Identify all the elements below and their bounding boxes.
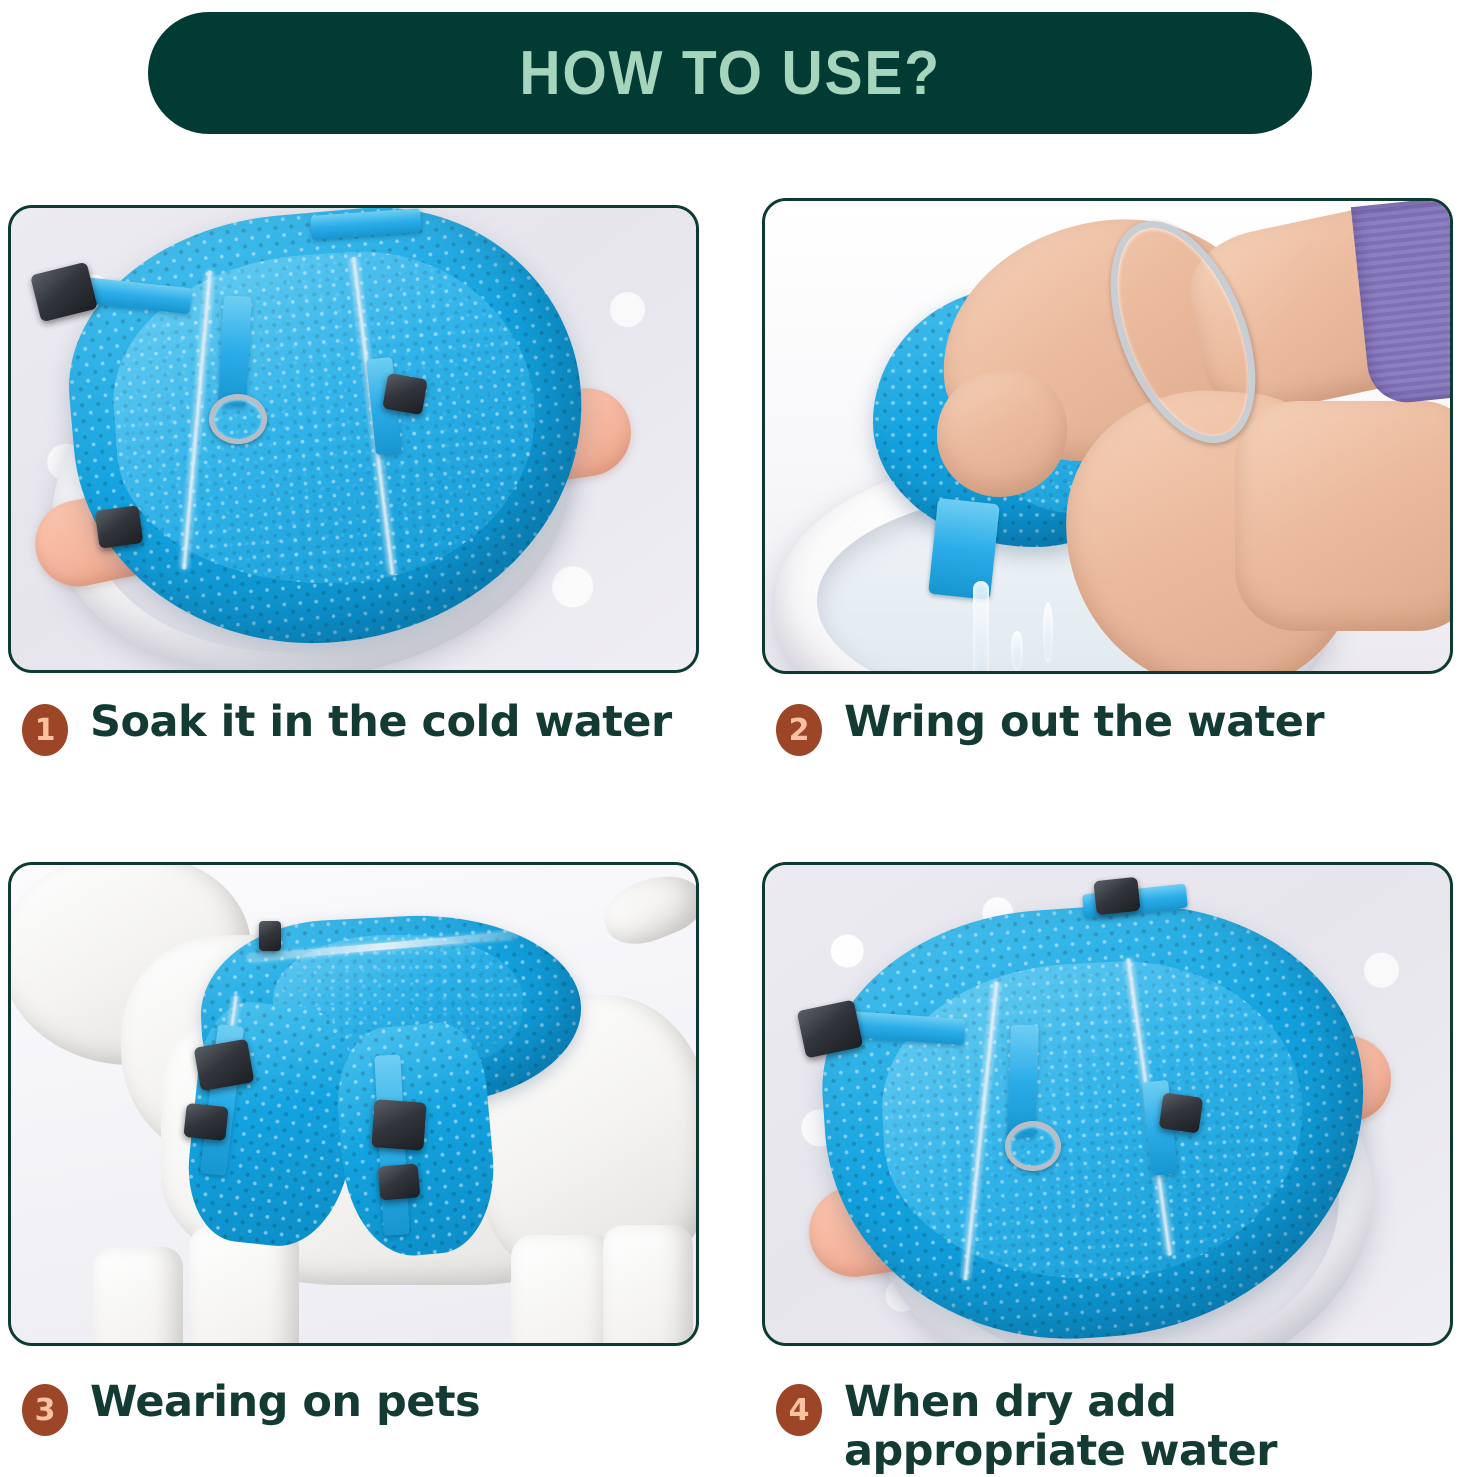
dog-hind-leg-near: [511, 1235, 616, 1343]
photo-wearing-on-pet: [11, 865, 696, 1343]
step-badge-1: 1: [22, 704, 68, 756]
harness-d-ring: [209, 394, 267, 444]
step-image-3: [8, 862, 699, 1346]
step-caption-3: 3 Wearing on pets: [22, 1378, 722, 1436]
forearm-lower: [1235, 401, 1450, 631]
step-image-2: [762, 198, 1453, 674]
harness-slider-chest: [183, 1103, 228, 1141]
harness-hanging-strap: [928, 498, 1000, 600]
harness-buckle-right: [1159, 1092, 1204, 1133]
photo-soak-harness: [11, 208, 696, 670]
dog-hind-leg-far: [603, 1225, 693, 1343]
dog-front-leg-far: [93, 1247, 183, 1343]
harness-buckle-chest: [194, 1039, 255, 1092]
step-image-4: [762, 862, 1453, 1346]
page-title: HOW TO USE?: [519, 38, 941, 109]
harness-buckle-top-right: [1093, 877, 1140, 915]
harness-buckle-bottom: [95, 505, 144, 549]
harness-zipper-pull: [259, 921, 281, 951]
step-caption-4: 4 When dry add appropriate water: [776, 1378, 1446, 1477]
harness-slider-belly: [378, 1163, 421, 1200]
step-label-4: When dry add appropriate water: [844, 1378, 1446, 1477]
water-drip-2: [1043, 603, 1053, 663]
photo-refill-water: [765, 865, 1450, 1343]
step-caption-2: 2 Wring out the water: [776, 698, 1446, 756]
header-banner: HOW TO USE?: [148, 12, 1312, 134]
step-label-3: Wearing on pets: [90, 1378, 480, 1427]
harness-d-ring: [1005, 1121, 1061, 1171]
harness-buckle-right: [382, 373, 428, 415]
step-badge-3: 3: [22, 1384, 68, 1436]
step-badge-2: 2: [776, 704, 822, 756]
step-image-1: [8, 205, 699, 673]
step-label-2: Wring out the water: [844, 698, 1324, 747]
harness-strap-handle: [218, 295, 252, 406]
water-stream: [973, 581, 989, 671]
photo-wring-harness: [765, 201, 1450, 671]
step-badge-4: 4: [776, 1384, 822, 1436]
step-caption-1: 1 Soak it in the cold water: [22, 698, 722, 756]
harness-buckle-belly: [371, 1099, 426, 1151]
water-drip-1: [1011, 631, 1023, 671]
step-label-1: Soak it in the cold water: [90, 698, 672, 747]
